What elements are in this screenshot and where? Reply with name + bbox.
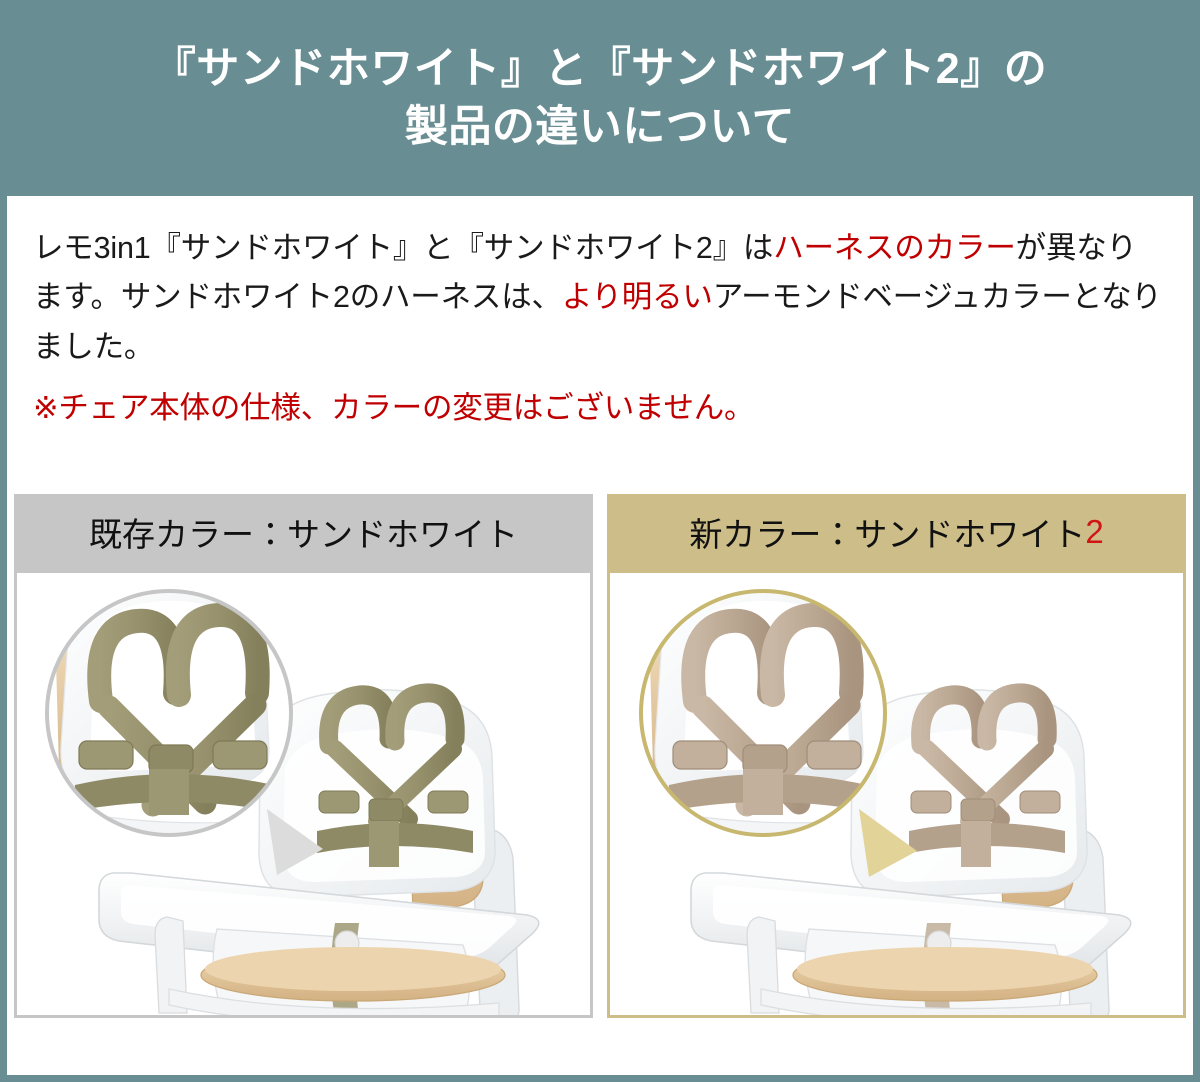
panel-existing-color: 既存カラー：サンドホワイト [14, 494, 593, 1018]
highchair-illustration-new [610, 573, 1183, 1015]
panel-new-color-label-text: 新カラー：サンドホワイト [689, 508, 1085, 556]
panel-existing-color-label-text: 既存カラー：サンドホワイト [89, 508, 518, 556]
description-segment-1: レモ3in1『サンドホワイト』と『サンドホワイト2』は [33, 231, 773, 265]
page-title-line-2: 製品の違いについて [405, 98, 795, 156]
page-header-banner: 『サンドホワイト』と『サンドホワイト2』の 製品の違いについて [0, 0, 1200, 196]
description-highlight-brighter: より明るい [562, 280, 713, 314]
highchair-illustration-existing [17, 573, 590, 1015]
description-note: ※チェア本体の仕様、カラーの変更はございません。 [33, 384, 1167, 433]
product-color-difference-page: 『サンドホワイト』と『サンドホワイト2』の 製品の違いについて レモ3in1『サ… [0, 0, 1200, 1082]
content-area: レモ3in1『サンドホワイト』と『サンドホワイト2』はハーネスのカラーが異なりま… [7, 196, 1193, 1075]
panel-new-color-label-suffix: 2 [1085, 513, 1103, 551]
page-title-line-1: 『サンドホワイト』と『サンドホワイト2』の [153, 40, 1047, 98]
panel-existing-color-photo [14, 570, 593, 1018]
comparison-panels: 既存カラー：サンドホワイト [14, 494, 1186, 1018]
panel-new-color-label: 新カラー：サンドホワイト2 [607, 494, 1186, 570]
description-block: レモ3in1『サンドホワイト』と『サンドホワイト2』はハーネスのカラーが異なりま… [7, 196, 1193, 434]
panel-existing-color-label: 既存カラー：サンドホワイト [14, 494, 593, 570]
description-highlight-harness-color: ハーネスのカラー [773, 231, 1015, 265]
panel-new-color: 新カラー：サンドホワイト2 [607, 494, 1186, 1018]
panel-new-color-photo [607, 570, 1186, 1018]
description-paragraph: レモ3in1『サンドホワイト』と『サンドホワイト2』はハーネスのカラーが異なりま… [33, 224, 1167, 372]
